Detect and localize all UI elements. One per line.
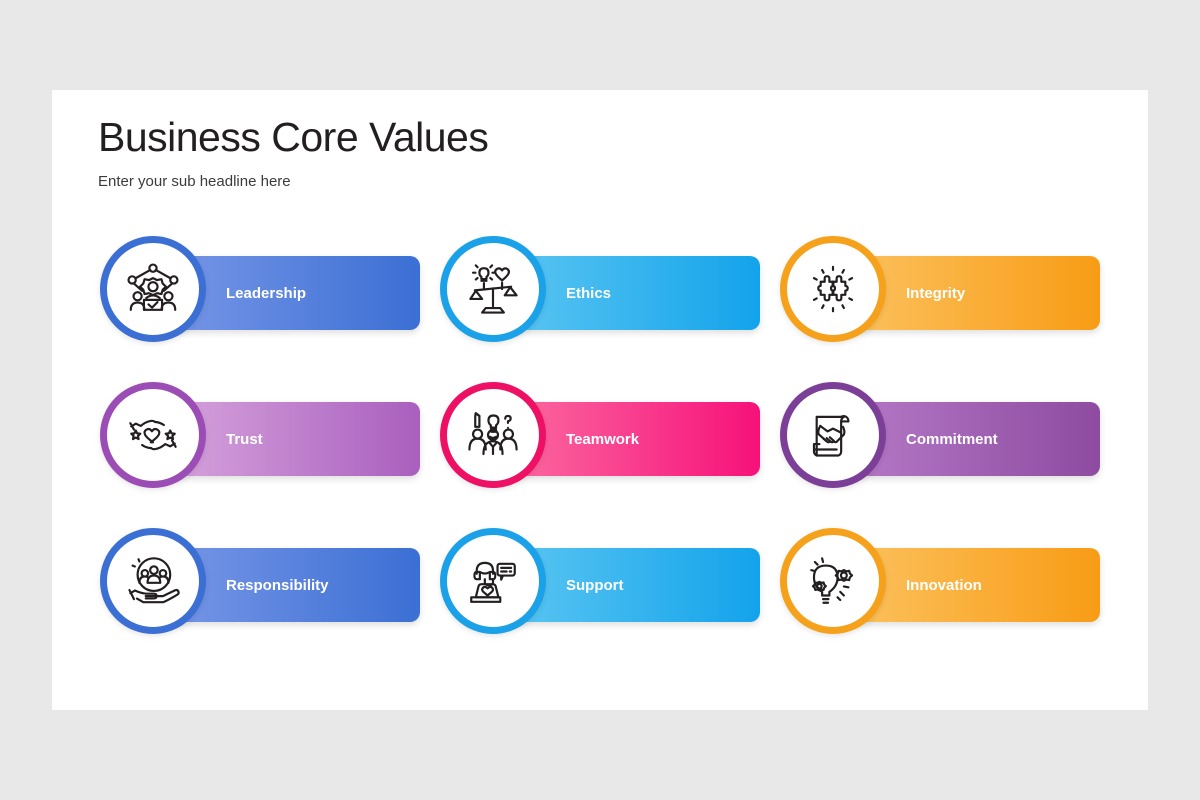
value-card-teamwork[interactable]: Teamwork <box>440 382 780 528</box>
slide-canvas: Business Core Values Enter your sub head… <box>52 90 1148 710</box>
value-card-label-trust: Trust <box>226 431 263 448</box>
value-card-label-support: Support <box>566 577 624 594</box>
value-card-circle-ethics[interactable] <box>440 236 546 342</box>
team-ideas-icon <box>464 406 522 464</box>
value-card-ethics[interactable]: Ethics <box>440 236 780 382</box>
slide-header: Business Core Values Enter your sub head… <box>98 115 488 190</box>
value-card-support[interactable]: Support <box>440 528 780 674</box>
value-card-responsibility[interactable]: Responsibility <box>100 528 440 674</box>
balance-scale-icon <box>464 260 522 318</box>
headset-agent-icon <box>464 552 522 610</box>
value-card-label-ethics: Ethics <box>566 285 611 302</box>
value-card-circle-integrity[interactable] <box>780 236 886 342</box>
value-card-leadership[interactable]: Leadership <box>100 236 440 382</box>
value-card-circle-trust[interactable] <box>100 382 206 488</box>
puzzle-pieces-icon <box>804 260 862 318</box>
value-card-label-innovation: Innovation <box>906 577 982 594</box>
value-card-commitment[interactable]: Commitment <box>780 382 1120 528</box>
value-card-label-leadership: Leadership <box>226 285 306 302</box>
value-card-innovation[interactable]: Innovation <box>780 528 1120 674</box>
hands-heart-stars-icon <box>124 406 182 464</box>
core-values-grid: Leadership Ethics <box>100 236 1104 674</box>
page-title: Business Core Values <box>98 115 488 160</box>
handshake-contract-icon <box>804 406 862 464</box>
value-card-circle-commitment[interactable] <box>780 382 886 488</box>
value-card-circle-teamwork[interactable] <box>440 382 546 488</box>
lightbulb-gears-icon <box>804 552 862 610</box>
value-card-label-commitment: Commitment <box>906 431 998 448</box>
value-card-integrity[interactable]: Integrity <box>780 236 1120 382</box>
page-subtitle: Enter your sub headline here <box>98 173 488 190</box>
hand-people-icon <box>124 552 182 610</box>
value-card-circle-responsibility[interactable] <box>100 528 206 634</box>
value-card-label-integrity: Integrity <box>906 285 965 302</box>
value-card-circle-leadership[interactable] <box>100 236 206 342</box>
value-card-circle-innovation[interactable] <box>780 528 886 634</box>
value-card-trust[interactable]: Trust <box>100 382 440 528</box>
value-card-circle-support[interactable] <box>440 528 546 634</box>
leadership-network-icon <box>124 260 182 318</box>
value-card-label-responsibility: Responsibility <box>226 577 329 594</box>
value-card-label-teamwork: Teamwork <box>566 431 639 448</box>
